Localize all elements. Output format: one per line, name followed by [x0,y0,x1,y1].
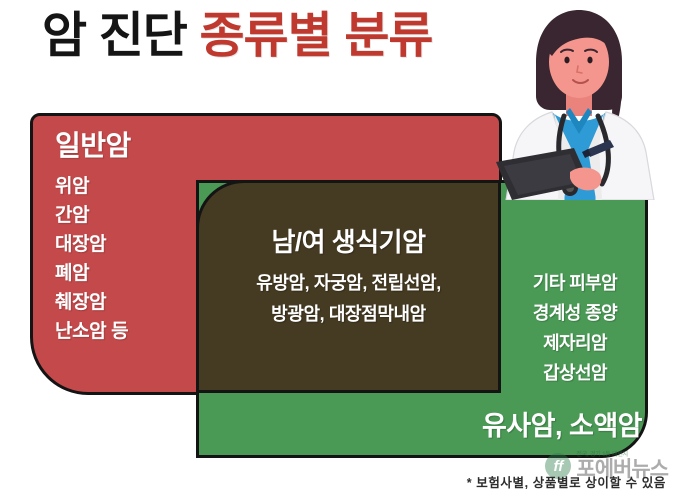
list-item: 제자리암 [506,328,644,358]
reproductive-cancer-list: 유방암, 자궁암, 전립선암, 방광암, 대장점막내암 [196,268,501,330]
list-item: 기타 피부암 [506,268,644,298]
list-item: 난소암 등 [55,317,128,346]
footnote-text: * 보험사별, 상품별로 상이할 수 있음 [467,472,666,491]
list-item: 췌장암 [55,288,128,317]
list-item: 유방암, 자궁암, 전립선암, [196,268,501,299]
similar-cancer-heading: 유사암, 소액암 [482,404,642,443]
list-item: 폐암 [55,259,128,288]
infographic-canvas: 암 진단 종류별 분류 [0,0,680,498]
reproductive-cancer-heading: 남/여 생식기암 [196,222,501,259]
list-item: 경계성 종양 [506,298,644,328]
similar-cancer-list: 기타 피부암 경계성 종양 제자리암 갑상선암 [506,268,644,388]
page-title: 암 진단 종류별 분류 [42,12,432,61]
list-item: 갑상선암 [506,358,644,388]
list-item: 위암 [55,172,128,201]
female-doctor-illustration [478,0,680,200]
list-item: 대장암 [55,230,128,259]
page-title-red: 종류별 분류 [199,9,432,63]
page-title-black: 암 진단 [42,9,199,63]
list-item: 간암 [55,201,128,230]
list-item: 방광암, 대장점막내암 [196,299,501,330]
general-cancer-heading: 일반암 [55,124,131,164]
general-cancer-list: 위암 간암 대장암 폐암 췌장암 난소암 등 [55,172,128,346]
